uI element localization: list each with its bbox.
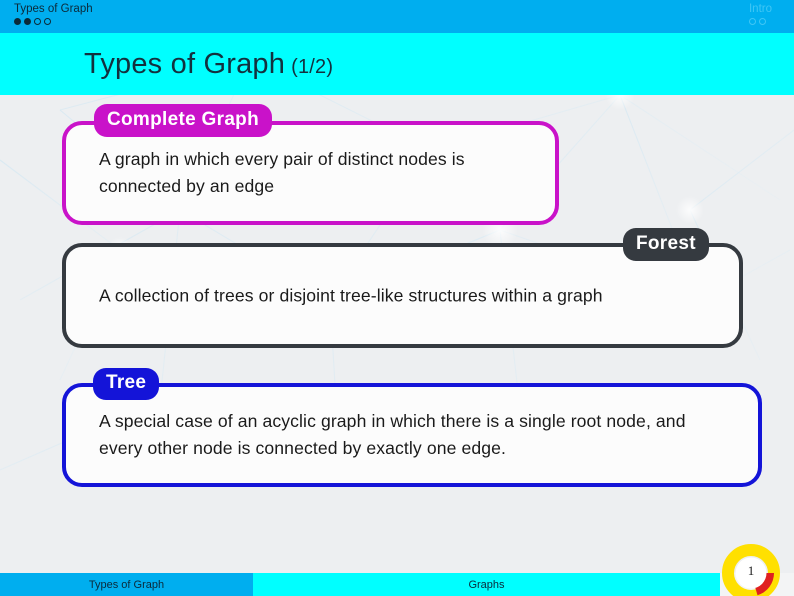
nav-dot-4[interactable] [44,18,51,25]
nav-progress-dots-right [749,18,772,25]
nav-dot-2[interactable] [24,18,31,25]
footer-bar: Types of Graph Graphs [0,573,794,596]
nav-dot-intro-2[interactable] [759,18,766,25]
footer-section-label[interactable]: Types of Graph [0,573,253,596]
definition-card-tab-tree[interactable]: Tree [93,368,159,400]
nav-dot-intro-1[interactable] [749,18,756,25]
page-title: Types of Graph(1/2) [84,48,333,81]
definition-card-text: A graph in which every pair of distinct … [99,146,529,200]
page-number-value: 1 [722,544,780,596]
nav-dot-1[interactable] [14,18,21,25]
definition-card-tab-forest[interactable]: Forest [623,228,709,261]
nav-section-label-intro: Intro [749,3,772,16]
nav-section-label: Types of Graph [14,3,93,16]
nav-progress-dots-left [14,18,93,25]
top-navigation-bar: Types of Graph Intro [0,0,794,33]
page-title-text: Types of Graph [84,48,285,80]
definition-card-text: A special case of an acyclic graph in wh… [99,408,732,462]
page-title-fraction: (1/2) [291,56,333,78]
definition-card-body: A special case of an acyclic graph in wh… [62,383,762,487]
nav-section-types-of-graph[interactable]: Types of Graph [14,3,93,25]
content-area: A graph in which every pair of distinct … [0,95,794,570]
definition-card-tab-complete-graph[interactable]: Complete Graph [94,104,272,137]
nav-section-intro[interactable]: Intro [749,3,772,25]
title-band: Types of Graph(1/2) [0,33,794,95]
footer-deck-label[interactable]: Graphs [253,573,720,596]
page-number-indicator: 1 [722,544,780,596]
definition-card-text: A collection of trees or disjoint tree-l… [99,282,713,309]
slide-root: Types of Graph Intro Types of Graph(1/2) [0,0,794,596]
nav-dot-3[interactable] [34,18,41,25]
